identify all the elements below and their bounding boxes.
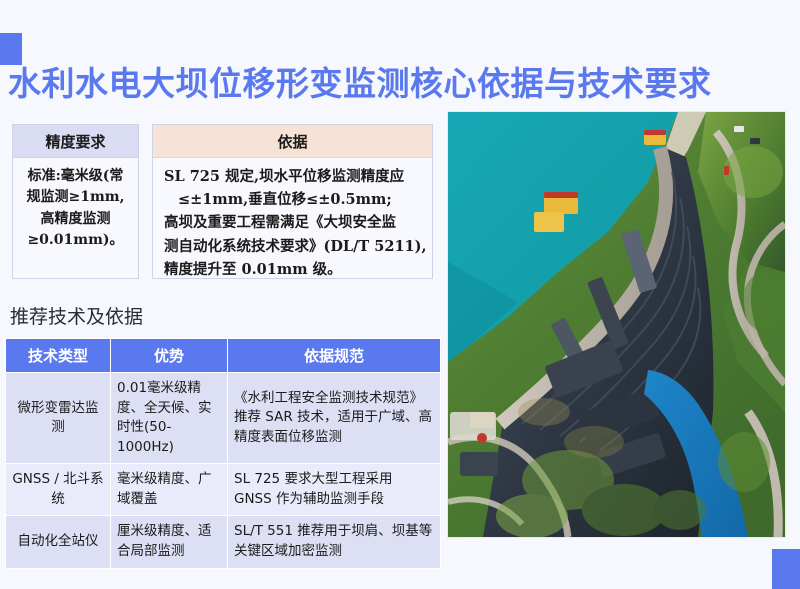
- dam-aerial-photo: [448, 112, 785, 537]
- cell-advantage: 0.01毫米级精度、全天候、实时性(50-1000Hz): [111, 373, 227, 463]
- accuracy-card-header: 精度要求: [13, 125, 138, 158]
- basis-card: 依据 SL 725 规定,坝水平位移监测精度应 ≤±1mm,垂直位移≤±0.5m…: [152, 124, 433, 279]
- section-heading-recommended-tech: 推荐技术及依据: [10, 302, 143, 329]
- basis-line: SL 725 规定,坝水平位移监测精度应: [164, 165, 423, 188]
- cell-type: GNSS / 北斗系统: [6, 464, 110, 515]
- cell-basis: 《水利工程安全监测技术规范》推荐 SAR 技术，适用于广域、高精度表面位移监测: [228, 373, 440, 463]
- cell-advantage: 厘米级精度、适合局部监测: [111, 516, 227, 567]
- cell-basis: SL 725 要求大型工程采用 GNSS 作为辅助监测手段: [228, 464, 440, 515]
- table-header-basis: 依据规范: [228, 339, 440, 372]
- accuracy-requirement-card: 精度要求 标准:毫米级(常规监测≥1mm,高精度监测≥0.01mm)。: [12, 124, 139, 279]
- page-title: 水利水电大坝位移形变监测核心依据与技术要求: [8, 57, 788, 105]
- basis-card-header: 依据: [153, 125, 432, 158]
- cell-type: 微形变雷达监测: [6, 373, 110, 463]
- accent-bar-bottom-right: [772, 549, 800, 589]
- table-header-advantage: 优势: [111, 339, 227, 372]
- table-header-row: 技术类型 优势 依据规范: [6, 339, 440, 372]
- basis-line: 高坝及重要工程需满足《大坝安全监: [164, 211, 423, 234]
- cell-advantage: 毫米级精度、广域覆盖: [111, 464, 227, 515]
- cell-basis: SL/T 551 推荐用于坝肩、坝基等关键区域加密监测: [228, 516, 440, 567]
- recommended-technology-table: 技术类型 优势 依据规范 微形变雷达监测 0.01毫米级精度、全天候、实时性(5…: [5, 338, 441, 569]
- basis-line: 精度提升至 0.01mm 级。: [164, 258, 423, 281]
- cell-type: 自动化全站仪: [6, 516, 110, 567]
- basis-card-body: SL 725 规定,坝水平位移监测精度应 ≤±1mm,垂直位移≤±0.5mm; …: [153, 158, 432, 289]
- table-row: 微形变雷达监测 0.01毫米级精度、全天候、实时性(50-1000Hz) 《水利…: [6, 373, 440, 463]
- table-row: GNSS / 北斗系统 毫米级精度、广域覆盖 SL 725 要求大型工程采用 G…: [6, 464, 440, 515]
- accuracy-card-body: 标准:毫米级(常规监测≥1mm,高精度监测≥0.01mm)。: [13, 158, 138, 261]
- table-row: 自动化全站仪 厘米级精度、适合局部监测 SL/T 551 推荐用于坝肩、坝基等关…: [6, 516, 440, 567]
- table-header-type: 技术类型: [6, 339, 110, 372]
- dam-aerial-illustration: [448, 112, 785, 537]
- basis-line: 测自动化系统技术要求》(DL/T 5211),: [164, 235, 423, 258]
- basis-line: ≤±1mm,垂直位移≤±0.5mm;: [164, 188, 423, 211]
